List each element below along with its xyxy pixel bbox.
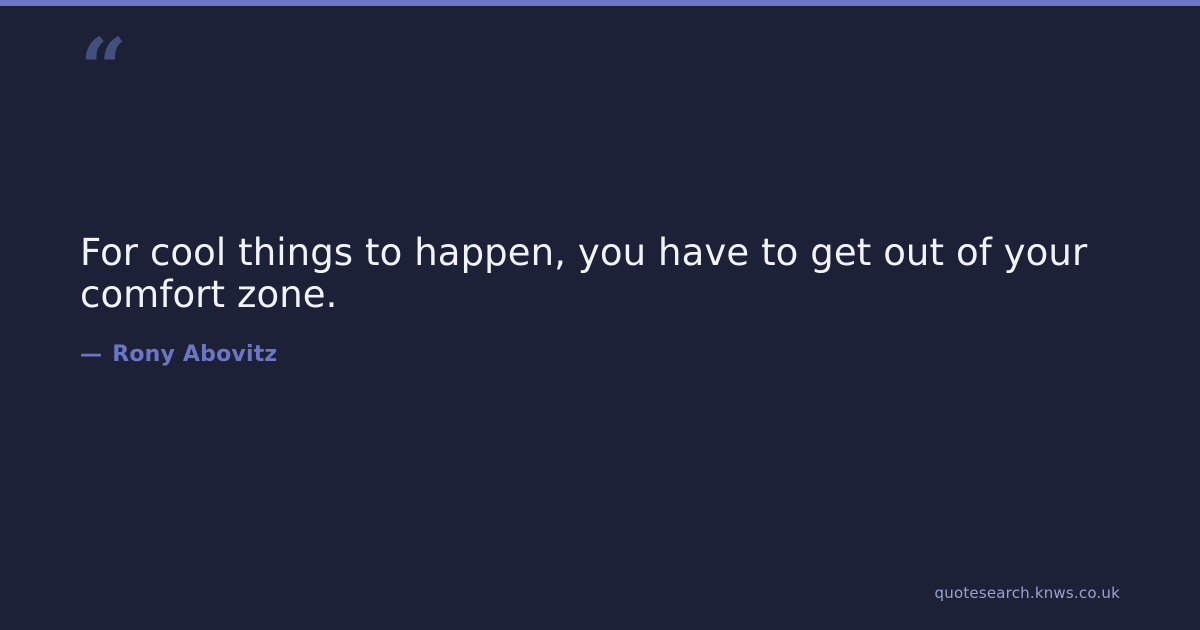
quote-body: For cool things to happen, you have to g… (80, 232, 1130, 316)
quote-text: For cool things to happen, you have to g… (80, 232, 1130, 316)
top-accent-bar (0, 0, 1200, 6)
site-url-label: quotesearch.knws.co.uk (935, 584, 1120, 602)
quote-card: “ For cool things to happen, you have to… (0, 0, 1200, 630)
attribution-dash: — (80, 342, 102, 367)
quotation-mark-icon: “ (80, 28, 127, 110)
author-name: Rony Abovitz (112, 342, 277, 367)
quote-attribution: —Rony Abovitz (80, 342, 277, 367)
